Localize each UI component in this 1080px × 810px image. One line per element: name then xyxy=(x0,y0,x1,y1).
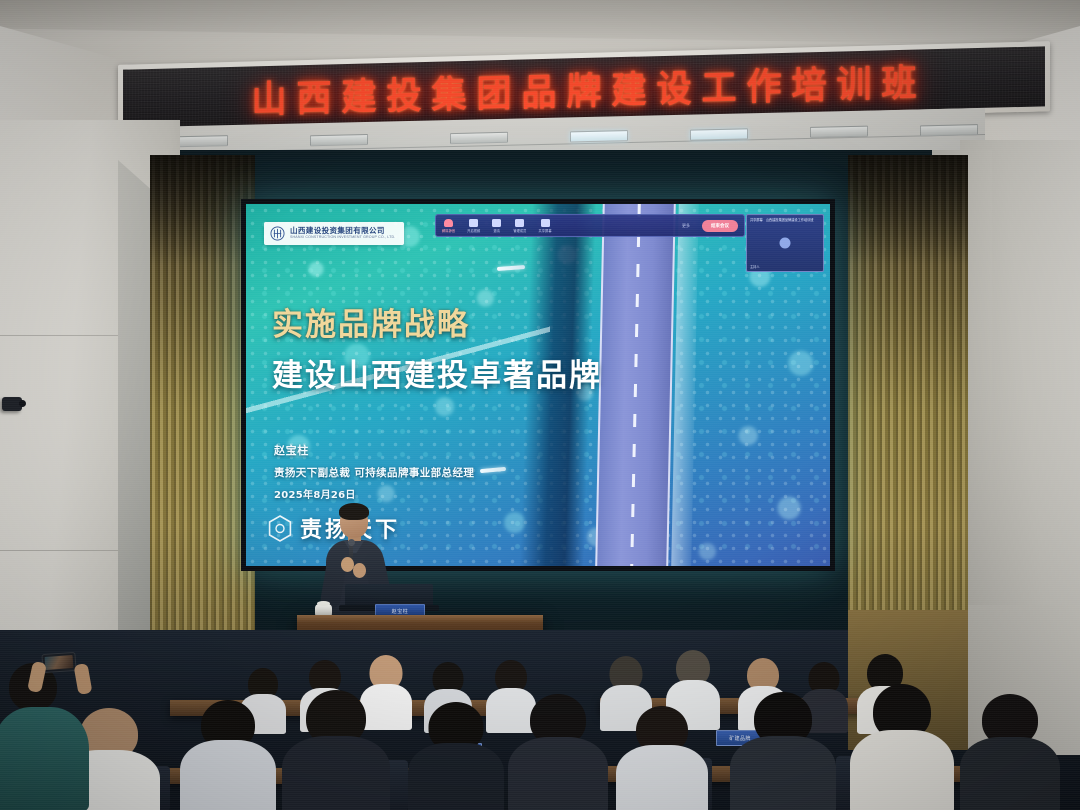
company-emblem-icon xyxy=(270,226,285,241)
thumbnail-title: 共享屏幕 xyxy=(750,217,763,222)
slide-speaker-role: 责扬天下副总裁 可持续品牌事业部总经理 xyxy=(274,465,474,480)
curtain-right xyxy=(848,155,968,685)
slide-speaker-name: 赵宝柱 xyxy=(274,442,474,458)
slide-title-line-1: 实施品牌战略 xyxy=(272,299,602,344)
conference-hall-photo: 山西建投集团品牌建设工作培训班 xyxy=(0,0,1080,810)
smartphone-icon xyxy=(41,652,76,673)
end-meeting-button[interactable]: 结束会议 xyxy=(702,220,738,232)
toolbar-item-camera[interactable]: 开启视频 xyxy=(467,219,480,233)
toolbar-item-invite[interactable]: 邀请 xyxy=(492,219,501,233)
audience-person xyxy=(508,694,608,810)
audience-person xyxy=(282,690,390,810)
invite-person-icon xyxy=(492,219,501,227)
audience-person xyxy=(850,684,954,810)
toolbar-label: 共享屏幕 xyxy=(538,228,551,233)
thumbnail-footer-label: 主持人 xyxy=(750,264,760,269)
toolbar-item-microphone[interactable]: 解除静音 xyxy=(442,219,455,233)
microphone-icon xyxy=(444,219,453,227)
toolbar-label: 管理成员 xyxy=(513,228,526,233)
slide-title-line-2: 建设山西建投卓著品牌 xyxy=(272,350,602,395)
toolbar-label: 解除静音 xyxy=(442,228,455,233)
presenter-hair xyxy=(339,503,369,520)
meeting-participant-thumbnail[interactable]: 共享屏幕 山西建投集团品牌建设工作培训班 主持人 xyxy=(746,214,824,272)
share-screen-icon xyxy=(541,219,550,227)
toolbar-item-members[interactable]: 管理成员 xyxy=(513,219,526,233)
slide-corner-logo: 山西建设投资集团有限公司 SHANXI CONSTRUCTION INVESTM… xyxy=(264,222,404,245)
slide-speaker-block: 赵宝柱 责扬天下副总裁 可持续品牌事业部总经理 2025年8月26日 xyxy=(274,442,474,501)
slide-date: 2025年8月26日 xyxy=(274,486,474,501)
curtain-left xyxy=(150,155,255,685)
toolbar-label: 邀请 xyxy=(494,228,501,233)
security-camera-icon xyxy=(2,397,22,411)
podium-nameplate-text: 赵宝柱 xyxy=(392,608,409,615)
aerial-road xyxy=(596,204,677,566)
audience-person xyxy=(960,694,1060,810)
meeting-toolbar[interactable]: 解除静音 开启视频 邀请 管理成员 共享屏幕 xyxy=(435,214,745,237)
members-icon xyxy=(515,219,524,227)
user-avatar-icon xyxy=(780,238,791,249)
thumbnail-subtitle: 山西建投集团品牌建设工作培训班 xyxy=(766,217,814,222)
slide-title-block: 实施品牌战略 建设山西建投卓著品牌 xyxy=(272,299,602,395)
toolbar-item-share[interactable]: 共享屏幕 xyxy=(538,219,551,233)
audience-person xyxy=(180,700,276,810)
audience-person xyxy=(616,706,708,810)
audience-person xyxy=(730,692,836,810)
road-lane-dashes xyxy=(631,204,642,566)
toolbar-label: 开启视频 xyxy=(467,228,480,233)
slide-logo-company-en: SHANXI CONSTRUCTION INVESTMENT GROUP CO.… xyxy=(290,236,395,240)
toolbar-more-button[interactable]: 更多 xyxy=(682,223,690,229)
slide-logo-company-cn: 山西建设投资集团有限公司 xyxy=(290,227,395,235)
podium-laptop xyxy=(345,584,433,606)
audience-person xyxy=(408,702,504,810)
hexagon-logo-icon xyxy=(268,515,292,542)
presenter-hand-right xyxy=(353,563,366,578)
camera-icon xyxy=(469,219,478,227)
